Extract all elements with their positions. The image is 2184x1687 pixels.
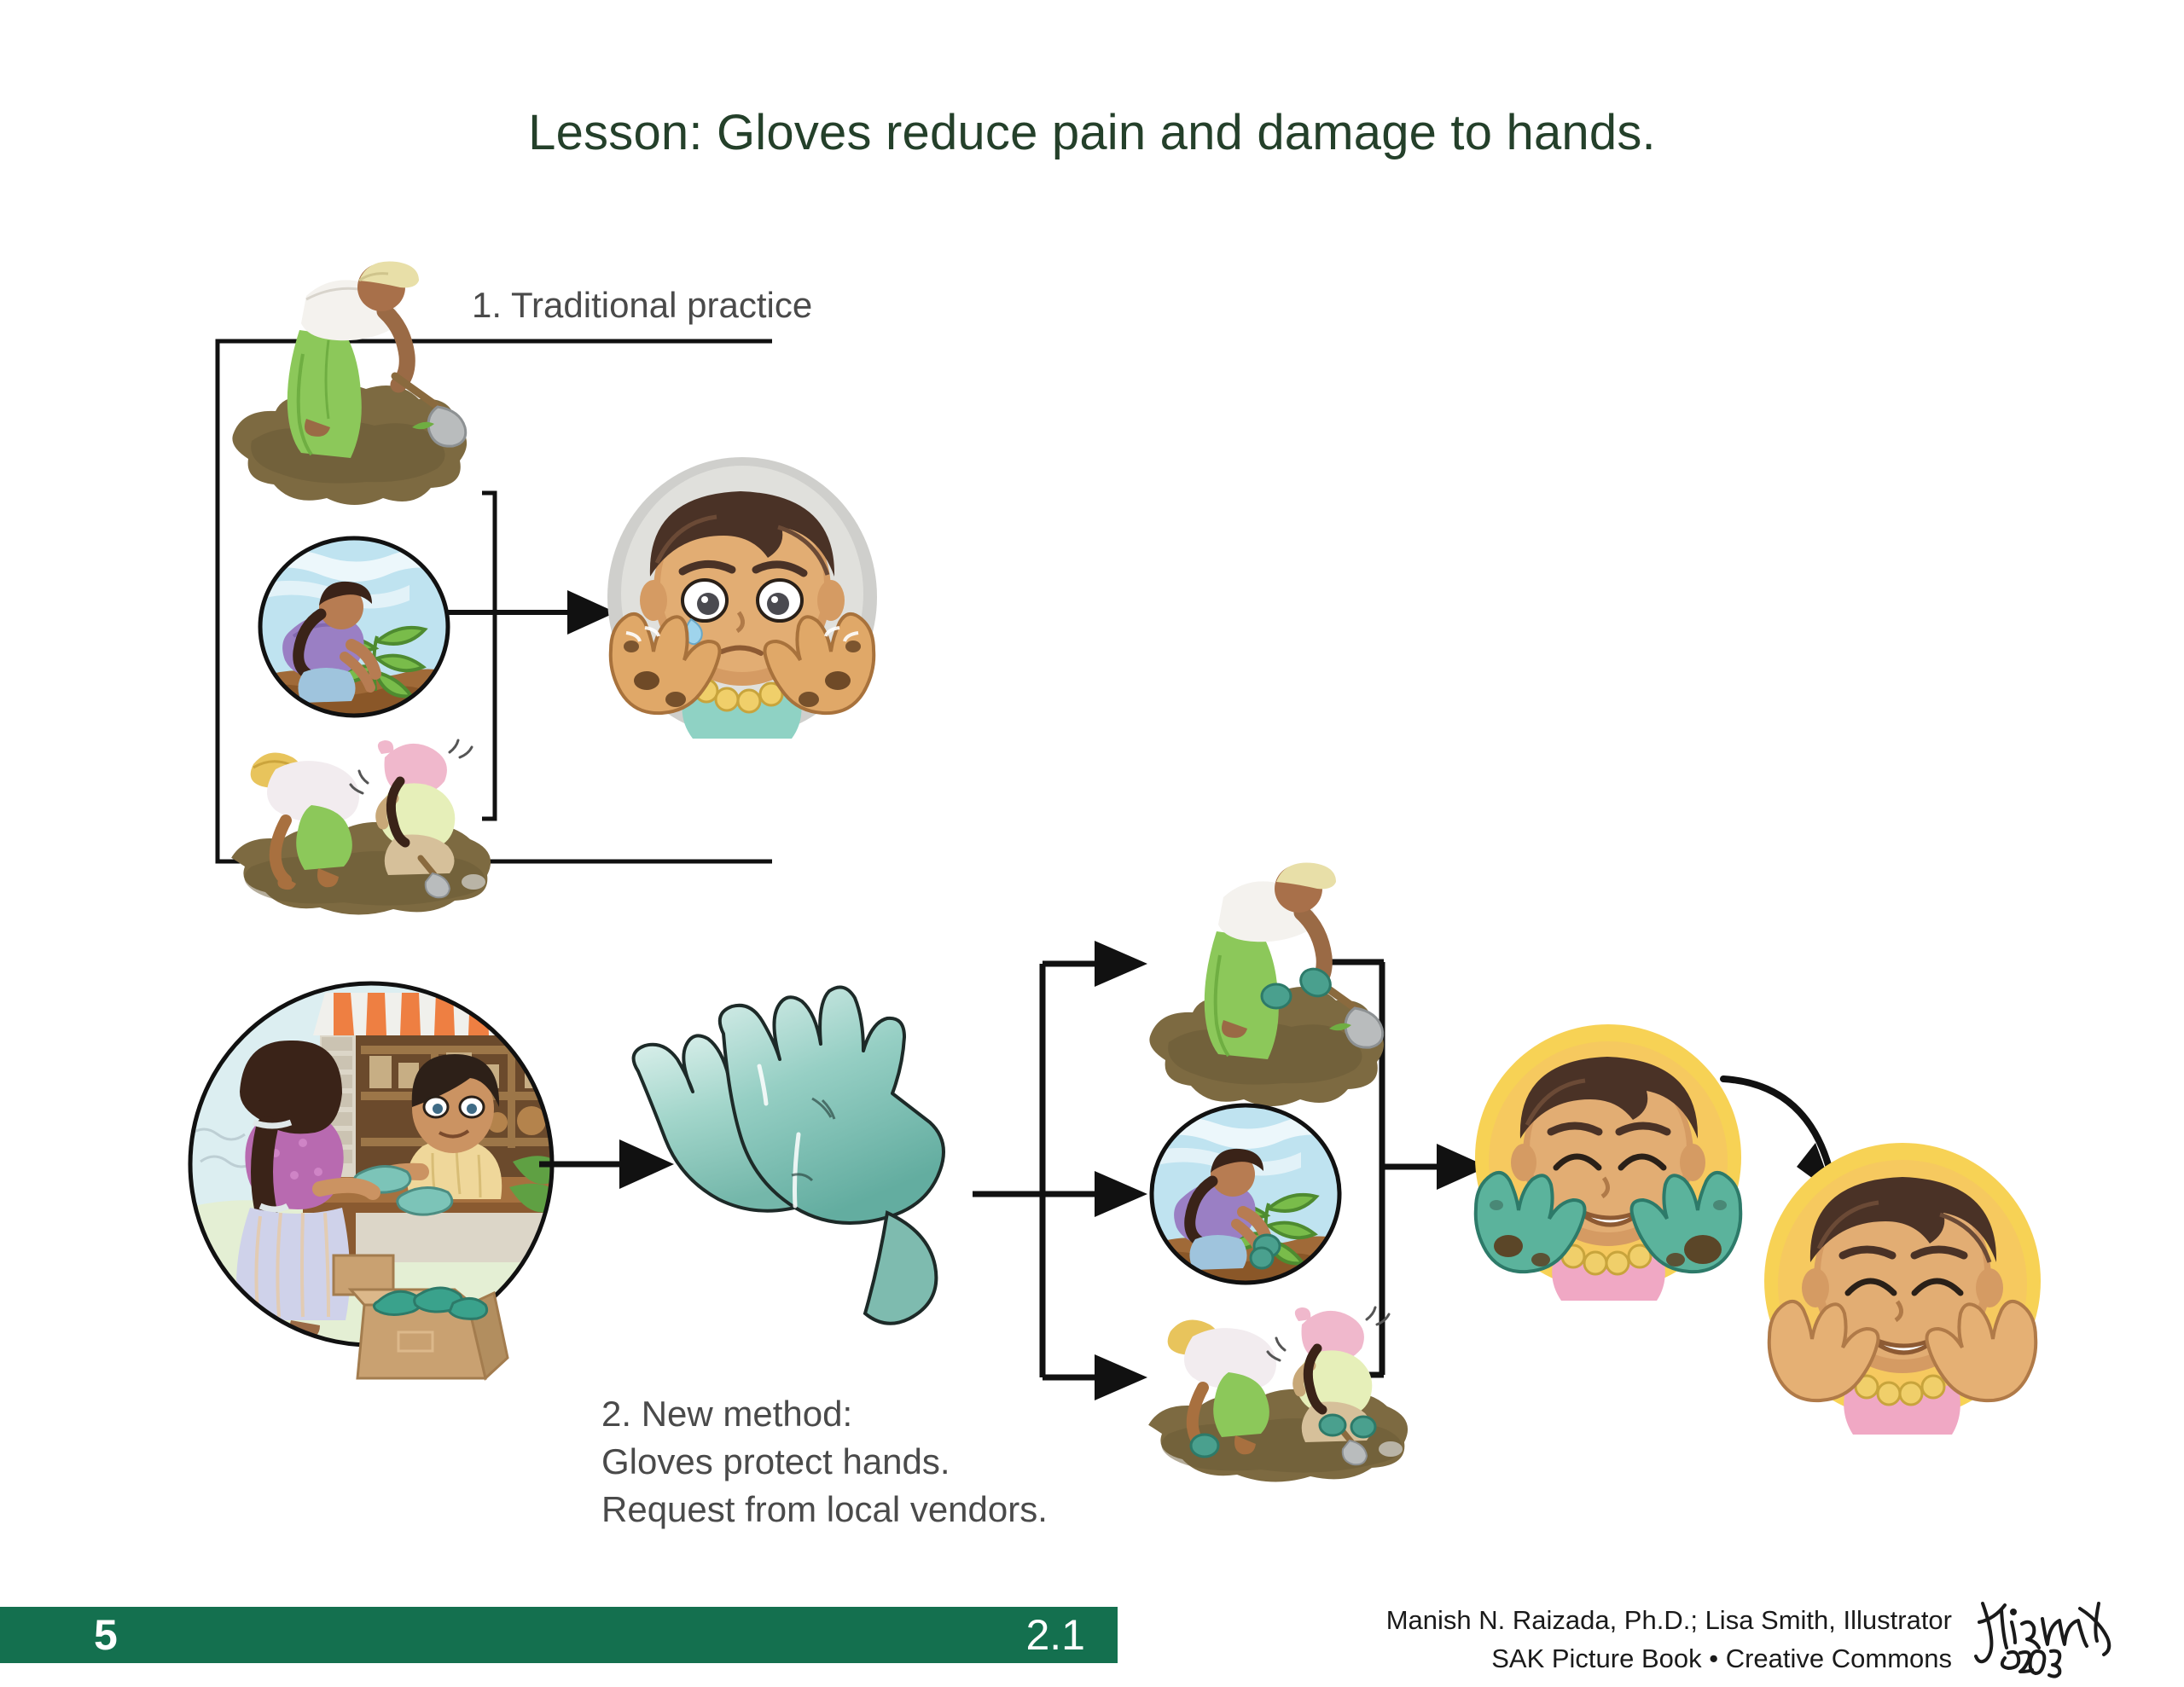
illustration-pair-of-rubber-gloves: [631, 972, 973, 1373]
illustration-happy-face-dirty-gloves: [1467, 1011, 1749, 1309]
page-title: Lesson: Gloves reduce pain and damage to…: [0, 104, 2184, 161]
illustration-two-women-weeding: [218, 708, 525, 930]
credit-line-authors: Manish N. Raizada, Ph.D.; Lisa Smith, Il…: [1386, 1602, 1952, 1640]
panel2-caption: 2. New method: Gloves protect hands. Req…: [601, 1390, 1048, 1533]
footer-bar: 5 2.1: [0, 1607, 1118, 1663]
credit-line-license: SAK Picture Book • Creative Commons: [1386, 1640, 1952, 1678]
illustration-two-women-weeding-gloved: [1135, 1275, 1442, 1497]
illustration-woman-planting-seedling-gloved: [1147, 1096, 1344, 1292]
section-number: 2.1: [1025, 1610, 1085, 1660]
illustration-sad-face-dirty-hands: [597, 443, 887, 759]
illustration-woman-digging-with-hoe: [218, 252, 499, 533]
illustration-happy-face-clean-hands: [1757, 1126, 2047, 1441]
panel2-caption-line-3: Request from local vendors.: [601, 1486, 1048, 1533]
page-canvas: Lesson: Gloves reduce pain and damage to…: [0, 0, 2184, 1687]
footer-credits: Manish N. Raizada, Ph.D.; Lisa Smith, Il…: [1386, 1602, 1952, 1678]
page-number: 5: [94, 1610, 118, 1660]
panel1-caption: 1. Traditional practice: [472, 281, 812, 329]
illustrator-signature: [1971, 1588, 2133, 1682]
illustration-woman-digging-with-hoe-gloved: [1135, 853, 1416, 1134]
illustration-woman-planting-seedling: [256, 529, 452, 725]
panel2-caption-line-2: Gloves protect hands.: [601, 1438, 1048, 1486]
panel2-caption-line-1: 2. New method:: [601, 1390, 1048, 1438]
illustration-market-vendor-selling-gloves: [175, 964, 567, 1424]
